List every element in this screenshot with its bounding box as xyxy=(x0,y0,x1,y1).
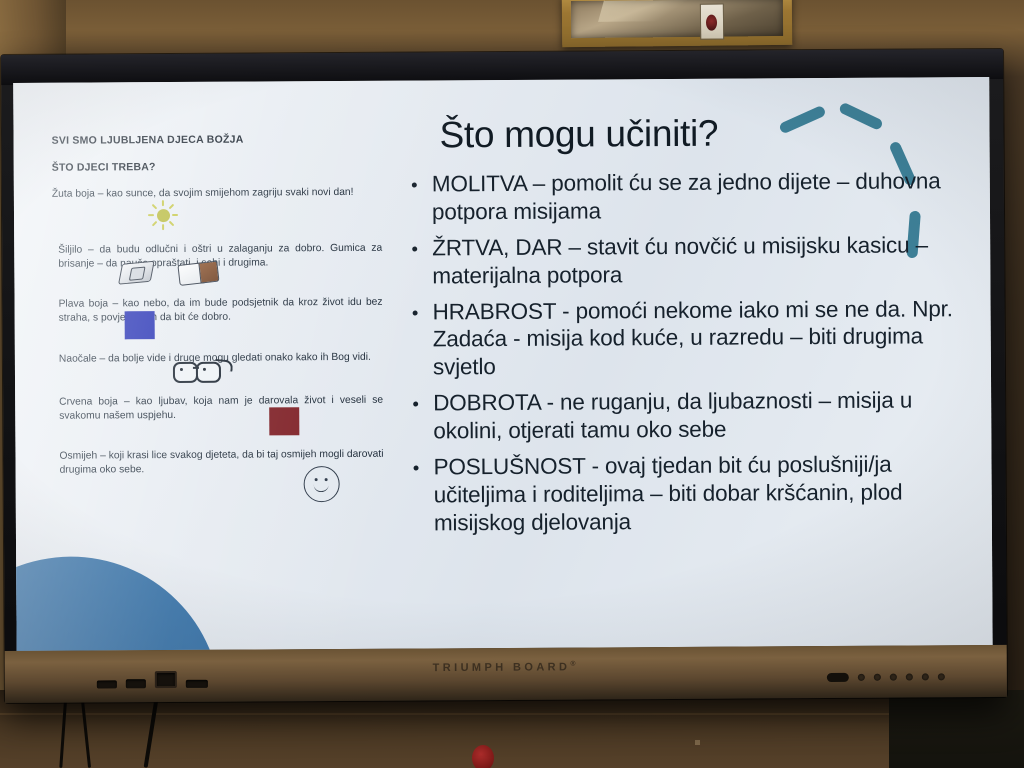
button-led-2-icon[interactable] xyxy=(890,674,897,681)
left-item-sharpener-eraser: Šiljilo – da budu odlučni i oštri u zala… xyxy=(52,241,382,283)
usb-port-icon[interactable] xyxy=(97,680,117,688)
bullet-poslusnost: POSLUŠNOST - ovaj tjedan bit ću poslušni… xyxy=(407,450,970,537)
button-led-5-icon[interactable] xyxy=(938,673,945,680)
device-brand-text: TRIUMPH BOARD xyxy=(433,662,571,675)
left-item-yellow: Žuta boja – kao sunce, da svojim smijeho… xyxy=(52,186,382,231)
picture-frame-artwork xyxy=(571,0,783,38)
left-item-yellow-text: Žuta boja – kao sunce, da svojim smijeho… xyxy=(52,186,382,203)
display-screen[interactable]: SVI SMO LJUBLJENA DJECA BOŽJA ŠTO DJECI … xyxy=(13,77,992,651)
blue-heart-icon xyxy=(125,311,155,339)
smiley-face-icon xyxy=(304,466,340,502)
wall-mark xyxy=(695,740,700,745)
bullet-molitva: MOLITVA – pomolit ću se za jedno dijete … xyxy=(406,167,968,226)
ir-sensor-icon xyxy=(827,673,849,682)
frame-label-sticker xyxy=(699,4,723,40)
eraser-icon xyxy=(177,261,217,284)
button-led-4-icon[interactable] xyxy=(922,673,929,680)
glasses-icon xyxy=(171,357,231,381)
frame-glass-glare xyxy=(598,0,697,22)
left-content-column: SVI SMO LJUBLJENA DJECA BOŽJA ŠTO DJECI … xyxy=(52,133,384,517)
red-heart-icon xyxy=(269,407,299,435)
left-item-glasses: Naočale – da bolje vide i druge mogu gle… xyxy=(53,351,383,383)
left-item-red: Crvena boja – kao ljubav, koja nam je da… xyxy=(53,393,383,436)
pencil-sharpener-icon xyxy=(118,261,155,285)
hdmi-port-icon[interactable] xyxy=(186,680,208,688)
registered-mark: ® xyxy=(570,661,579,668)
wall-right-dark-edge xyxy=(889,690,1024,768)
slide-title: Što mogu učiniti? xyxy=(439,111,967,156)
room-scene: SVI SMO LJUBLJENA DJECA BOŽJA ŠTO DJECI … xyxy=(0,0,1024,768)
indicator-cluster[interactable] xyxy=(827,672,945,682)
power-led-icon[interactable] xyxy=(858,674,865,681)
right-content-column: Što mogu učiniti? MOLITVA – pomolit ću s… xyxy=(405,111,970,545)
sun-icon xyxy=(148,200,178,230)
picture-frame xyxy=(562,0,793,47)
left-item-blue: Plava boja – kao nebo, da im bude podsje… xyxy=(53,296,383,340)
bullet-hrabrost: HRABROST - pomoći nekome iako mi se ne d… xyxy=(407,295,970,382)
left-column-title: SVI SMO LJUBLJENA DJECA BOŽJA xyxy=(52,133,382,147)
button-led-3-icon[interactable] xyxy=(906,674,913,681)
left-column-subtitle: ŠTO DJECI TREBA? xyxy=(52,160,382,174)
usb-port-2-icon[interactable] xyxy=(126,679,146,688)
left-item-smile: Osmijeh – koji krasi lice svakog djeteta… xyxy=(53,448,383,504)
bezel-bottom: TRIUMPH BOARD® xyxy=(5,645,1007,703)
blue-circle-decoration xyxy=(13,556,222,651)
red-object-on-wall xyxy=(472,745,494,768)
interactive-whiteboard[interactable]: SVI SMO LJUBLJENA DJECA BOŽJA ŠTO DJECI … xyxy=(1,49,1007,703)
bullet-zrtva-dar: ŽRTVA, DAR – stavit ću novčić u misijsku… xyxy=(406,231,968,290)
bullet-dobrota: DOBROTA - ne ruganju, da ljubaznosti – m… xyxy=(407,386,969,445)
action-bullet-list: MOLITVA – pomolit ću se za jedno dijete … xyxy=(406,167,970,537)
presentation-slide: SVI SMO LJUBLJENA DJECA BOŽJA ŠTO DJECI … xyxy=(13,77,992,651)
button-led-1-icon[interactable] xyxy=(874,674,881,681)
